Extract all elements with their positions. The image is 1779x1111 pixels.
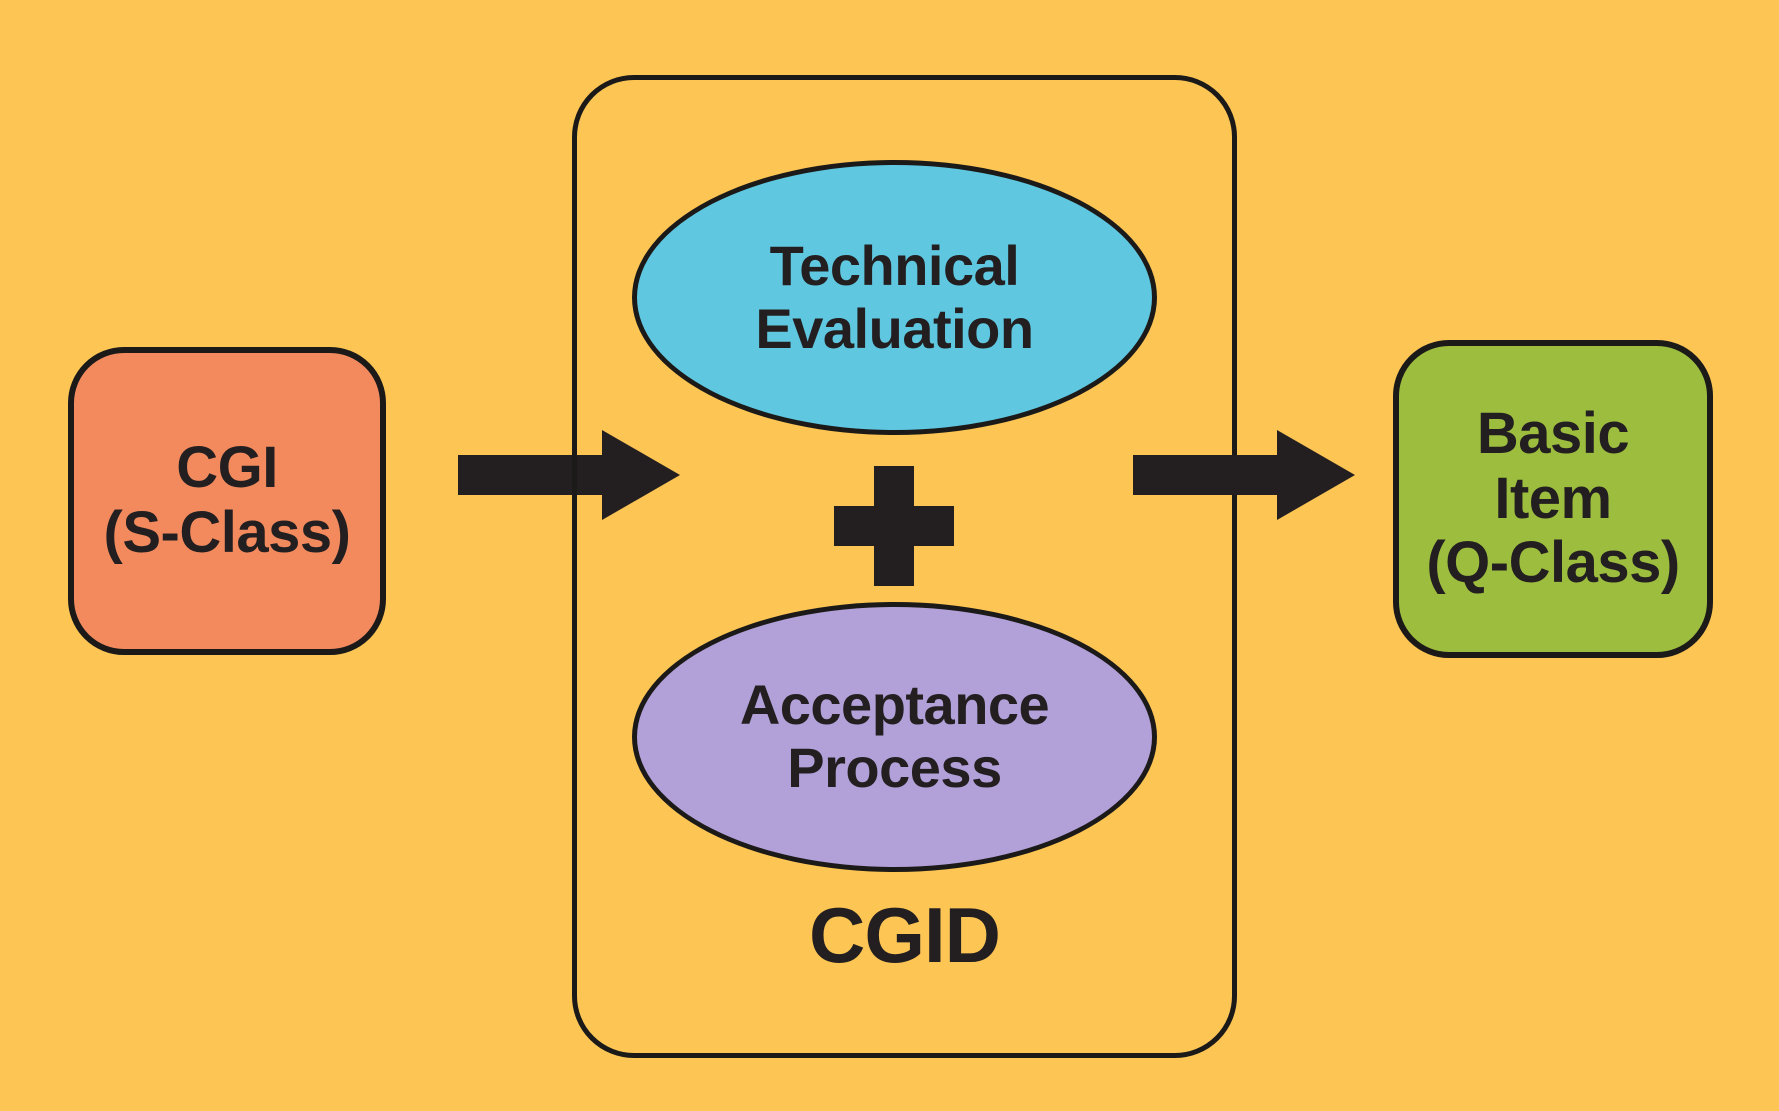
arrow-right-icon-cgid-to-basic-item	[1133, 430, 1355, 520]
diagram-canvas: CGI (S-Class) Technical Evaluation Accep…	[0, 0, 1779, 1111]
diagram-stage: CGI (S-Class) Technical Evaluation Accep…	[0, 0, 1779, 1111]
node-cgi-label: CGI (S-Class)	[104, 436, 351, 566]
plus-icon	[834, 466, 954, 586]
node-technical-evaluation-label: Technical Evaluation	[755, 235, 1033, 360]
node-cgi[interactable]: CGI (S-Class)	[68, 347, 386, 655]
plus-icon-vertical-bar	[874, 466, 914, 586]
node-acceptance-process[interactable]: Acceptance Process	[632, 602, 1157, 872]
arrow-tail	[1133, 455, 1283, 495]
arrow-head	[1277, 430, 1355, 520]
node-basic-item-label: Basic Item (Q-Class)	[1426, 402, 1679, 597]
node-basic-item[interactable]: Basic Item (Q-Class)	[1393, 340, 1713, 658]
node-technical-evaluation[interactable]: Technical Evaluation	[632, 160, 1157, 435]
node-acceptance-process-label: Acceptance Process	[740, 674, 1049, 799]
group-cgid-label: CGID	[572, 890, 1237, 981]
